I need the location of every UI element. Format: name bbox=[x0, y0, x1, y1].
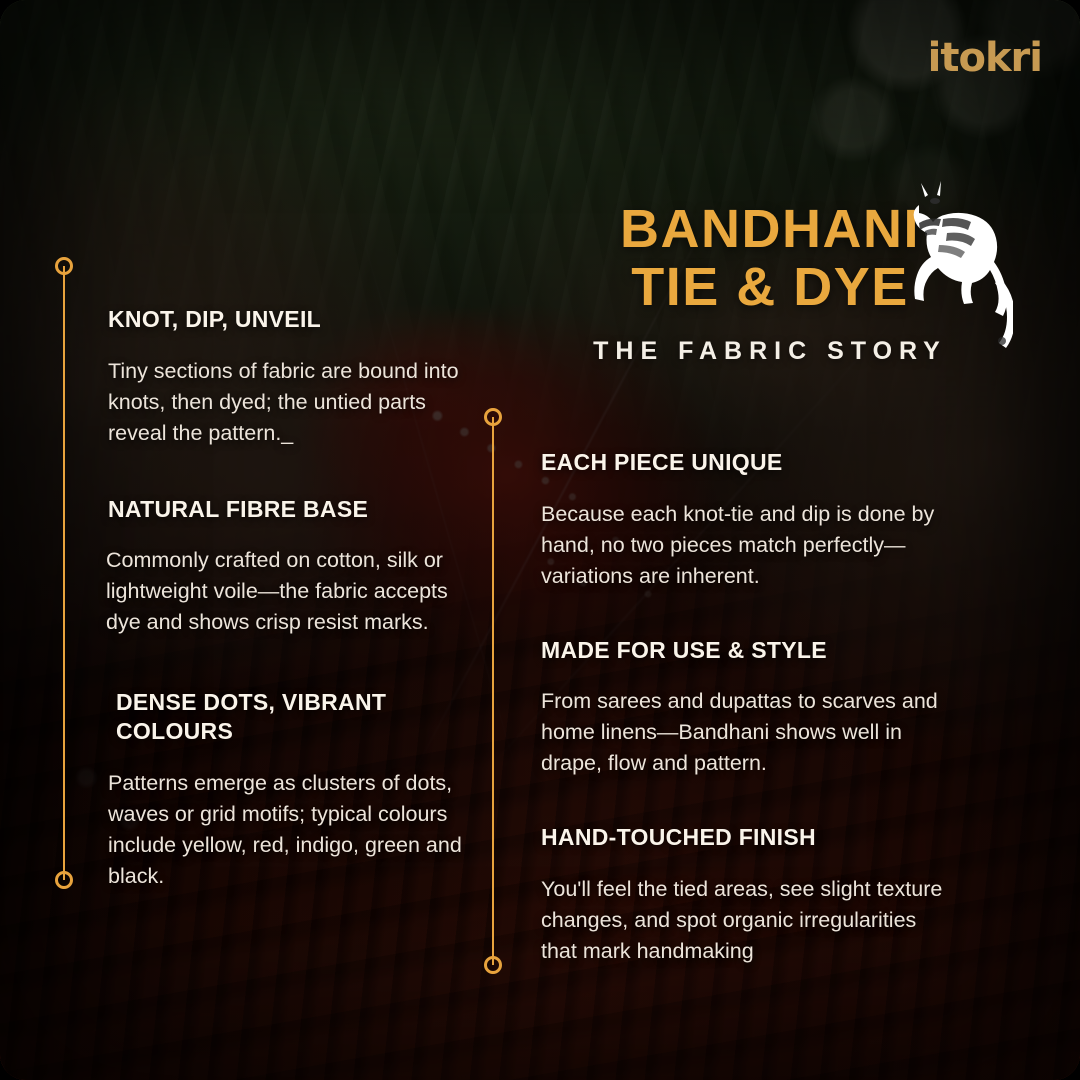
itokri-logo[interactable]: itokri bbox=[928, 38, 1042, 78]
info-block-heading: EACH PIECE UNIQUE bbox=[541, 448, 949, 477]
info-block: MADE FOR USE & STYLE From sarees and dup… bbox=[541, 636, 949, 780]
goat-sketch-icon bbox=[895, 175, 1013, 355]
info-block: KNOT, DIP, UNVEIL Tiny sections of fabri… bbox=[106, 305, 476, 449]
timeline-rail-left bbox=[54, 257, 74, 889]
timeline-node-bottom-left bbox=[55, 871, 73, 889]
info-block-body: Tiny sections of fabric are bound into k… bbox=[108, 356, 476, 449]
info-block-heading: NATURAL FIBRE BASE bbox=[108, 495, 476, 524]
info-block-heading: KNOT, DIP, UNVEIL bbox=[108, 305, 476, 334]
info-block: HAND-TOUCHED FINISH You'll feel the tied… bbox=[541, 823, 949, 967]
info-block-heading: MADE FOR USE & STYLE bbox=[541, 636, 949, 665]
timeline-stem-right bbox=[492, 417, 494, 965]
info-block: EACH PIECE UNIQUE Because each knot-tie … bbox=[541, 448, 949, 592]
info-block-body: Because each knot-tie and dip is done by… bbox=[541, 499, 949, 592]
info-block-body: You'll feel the tied areas, see slight t… bbox=[541, 874, 949, 967]
info-block-body: Commonly crafted on cotton, silk or ligh… bbox=[106, 545, 476, 638]
content-column-right: EACH PIECE UNIQUE Because each knot-tie … bbox=[541, 448, 949, 967]
timeline-stem-left bbox=[63, 266, 65, 880]
info-block: NATURAL FIBRE BASE Commonly crafted on c… bbox=[106, 495, 476, 639]
infographic-poster: itokri BANDHANI TIE & DYE THE FABRIC STO… bbox=[0, 0, 1080, 1080]
info-block-heading: DENSE DOTS, VIBRANT COLOURS bbox=[116, 688, 476, 746]
content-column-left: KNOT, DIP, UNVEIL Tiny sections of fabri… bbox=[106, 305, 476, 892]
info-block: DENSE DOTS, VIBRANT COLOURS Patterns eme… bbox=[106, 688, 476, 891]
timeline-node-bottom-right bbox=[484, 956, 502, 974]
timeline-rail-right bbox=[483, 408, 503, 974]
info-block-body: Patterns emerge as clusters of dots, wav… bbox=[108, 768, 476, 892]
info-block-heading: HAND-TOUCHED FINISH bbox=[541, 823, 949, 852]
info-block-body: From sarees and dupattas to scarves and … bbox=[541, 686, 949, 779]
